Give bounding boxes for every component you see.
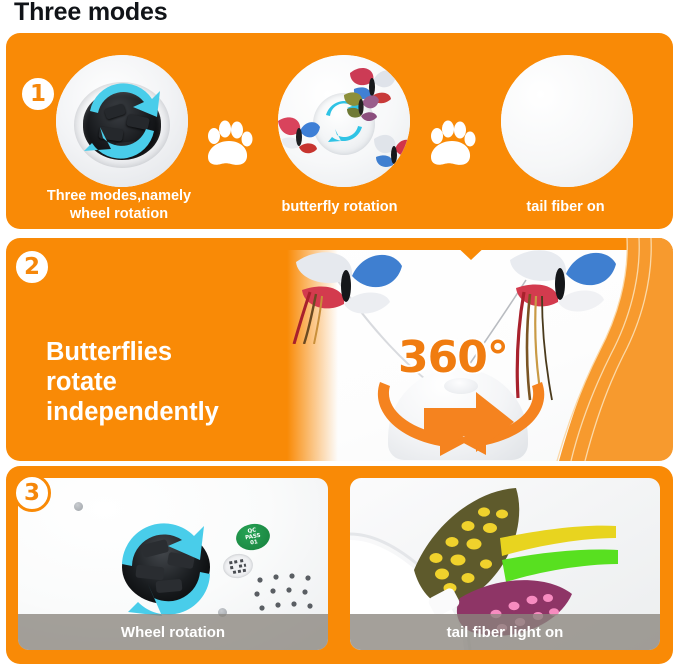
caption-line: Three modes,namely bbox=[24, 187, 214, 205]
screw-icon bbox=[74, 502, 83, 511]
step-badge-2: 2 bbox=[13, 248, 51, 286]
step-badge-1: 1 bbox=[19, 75, 57, 113]
headline-line: independently bbox=[46, 398, 219, 428]
paw-print-icon bbox=[203, 119, 255, 169]
image-card-wheel-rotation: QC PASS 01 Wheel rotatio bbox=[18, 478, 328, 650]
qr-code-icon bbox=[221, 552, 255, 581]
headline-line: Butterflies bbox=[46, 338, 219, 368]
rotation-degree-label: 360° bbox=[398, 332, 508, 383]
caption-text: tail fiber light on bbox=[447, 624, 564, 641]
image-card-tail-fiber-light-on: tail fiber light on bbox=[350, 478, 660, 650]
butterfly-icon bbox=[366, 127, 410, 175]
butterfly-left-icon bbox=[282, 238, 412, 344]
rotation-arrow-icon bbox=[56, 55, 188, 187]
caption-butterfly-rotation: butterfly rotation bbox=[252, 198, 427, 216]
qc-line: 01 bbox=[250, 539, 259, 547]
mode-image-tail-fiber-on bbox=[501, 55, 633, 187]
caption-bar-wheel-rotation: Wheel rotation bbox=[18, 614, 328, 650]
caption-bar-tail-fiber-light-on: tail fiber light on bbox=[350, 614, 660, 650]
qr-code-sticker bbox=[221, 552, 255, 581]
caption-line: wheel rotation bbox=[24, 205, 214, 223]
infographic-page: Three modes bbox=[0, 0, 679, 670]
feather-photo-background bbox=[501, 55, 633, 187]
page-title: Three modes bbox=[14, 0, 167, 27]
mode-image-wheel-rotation bbox=[56, 55, 188, 187]
butterfly-icon bbox=[278, 111, 324, 157]
butterfly-icon bbox=[338, 85, 384, 125]
mode-image-butterfly-rotation bbox=[278, 55, 410, 187]
paw-print-icon bbox=[426, 119, 478, 169]
headline-butterflies-rotate-independently: Butterflies rotate independently bbox=[46, 338, 219, 427]
caption-wheel-rotation: Three modes,namely wheel rotation bbox=[24, 187, 214, 223]
caption-text: Wheel rotation bbox=[121, 624, 225, 641]
caption-tail-fiber-on: tail fiber on bbox=[478, 198, 653, 216]
headline-line: rotate bbox=[46, 368, 219, 398]
step-badge-3: 3 bbox=[13, 474, 51, 512]
